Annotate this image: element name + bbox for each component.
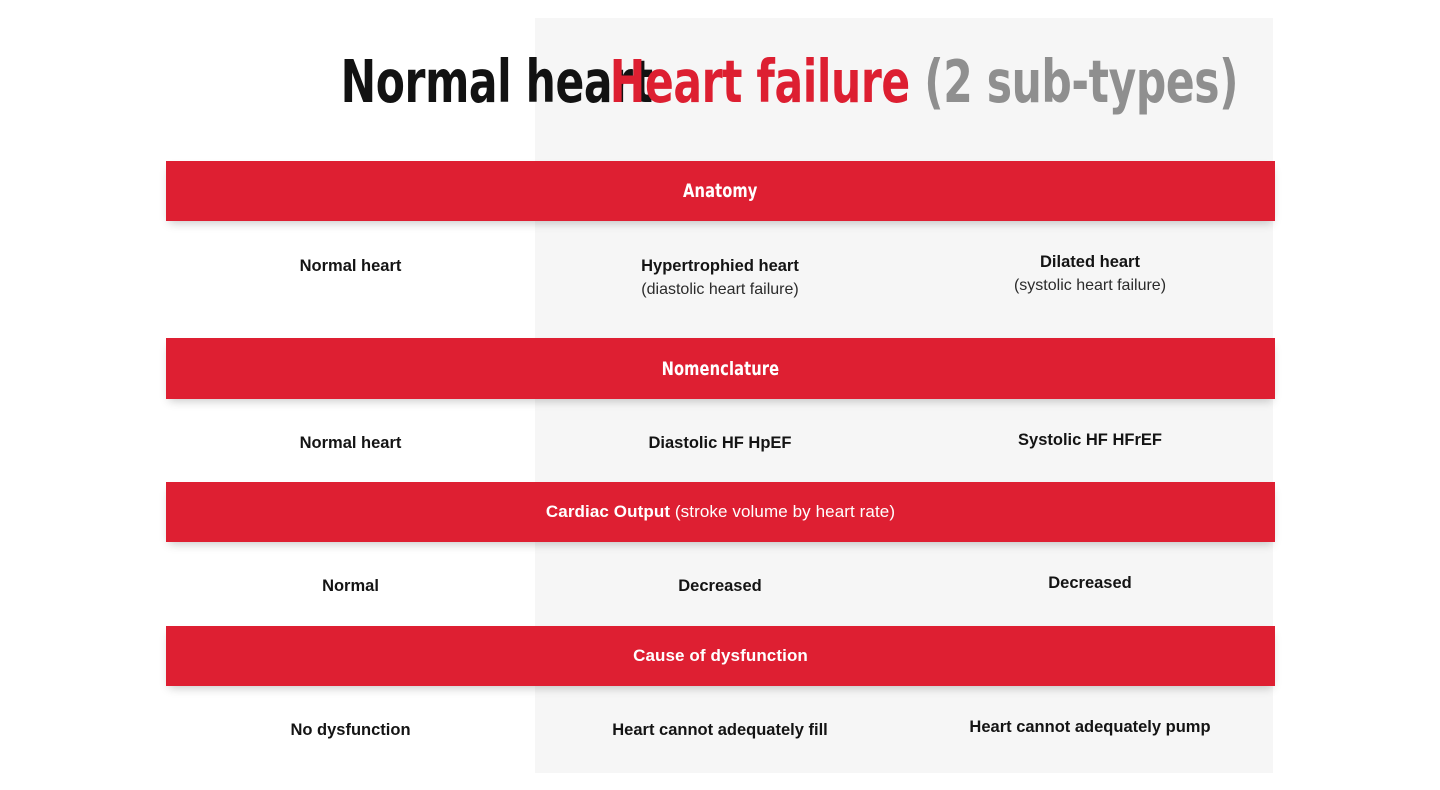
cell-anatomy-dilated: Dilated heart (systolic heart failure)	[905, 221, 1275, 337]
cell-cardiac-output-hypertrophied-main: Decreased	[535, 575, 905, 598]
cell-nomenclature-normal-main: Normal heart	[166, 432, 535, 455]
data-row-anatomy: Normal heart Hypertrophied heart (diasto…	[166, 221, 1275, 337]
data-row-nomenclature: Normal heart Diastolic HF HpEF Systolic …	[166, 399, 1275, 481]
cell-cause-systolic-main: Heart cannot adequately pump	[905, 716, 1275, 739]
cell-nomenclature-systolic: Systolic HF HFrEF	[905, 399, 1275, 481]
cell-cause-normal-main: No dysfunction	[166, 719, 535, 742]
heading-heart-failure: Heart failure (2 sub-types)	[610, 46, 1200, 118]
section-header-cardiac-output-label: Cardiac Output (stroke volume by heart r…	[546, 502, 895, 522]
cell-cardiac-output-normal-main: Normal	[166, 575, 535, 598]
section-header-cardiac-output-bold: Cardiac Output	[546, 502, 670, 521]
data-row-cause-of-dysfunction: No dysfunction Heart cannot adequately f…	[166, 686, 1275, 773]
section-header-anatomy-bold: Anatomy	[683, 180, 757, 202]
data-row-cardiac-output: Normal Decreased Decreased	[166, 542, 1275, 625]
section-header-anatomy: Anatomy	[166, 161, 1275, 221]
cell-cardiac-output-hypertrophied: Decreased	[535, 542, 905, 625]
section-header-nomenclature-label: Nomenclature	[662, 358, 780, 380]
cell-cause-diastolic-main: Heart cannot adequately fill	[535, 719, 905, 742]
cell-cardiac-output-normal: Normal	[166, 542, 535, 625]
cell-nomenclature-normal: Normal heart	[166, 399, 535, 481]
section-header-nomenclature: Nomenclature	[166, 338, 1275, 399]
heading-heart-failure-subtypes: (2 sub-types)	[924, 47, 1238, 116]
section-header-cardiac-output-regular: (stroke volume by heart rate)	[670, 502, 895, 521]
cell-anatomy-dilated-sub: (systolic heart failure)	[905, 274, 1275, 297]
heading-heart-failure-main: Heart failure	[610, 47, 910, 116]
cell-anatomy-dilated-main: Dilated heart	[905, 251, 1275, 274]
cell-nomenclature-diastolic-main: Diastolic HF HpEF	[535, 432, 905, 455]
cell-cause-diastolic: Heart cannot adequately fill	[535, 686, 905, 773]
cell-anatomy-normal: Normal heart	[166, 221, 535, 337]
cell-anatomy-hypertrophied-sub: (diastolic heart failure)	[535, 278, 905, 301]
cell-cardiac-output-dilated: Decreased	[905, 542, 1275, 625]
cell-nomenclature-diastolic: Diastolic HF HpEF	[535, 399, 905, 481]
comparison-table: Normal heart Heart failure (2 sub-types)…	[0, 0, 1440, 790]
section-header-cardiac-output: Cardiac Output (stroke volume by heart r…	[166, 482, 1275, 542]
section-header-anatomy-label: Anatomy	[683, 180, 757, 202]
section-header-cause-of-dysfunction-label: Cause of dysfunction	[633, 646, 808, 666]
cell-nomenclature-systolic-main: Systolic HF HFrEF	[905, 429, 1275, 452]
section-header-cause-of-dysfunction-bold: Cause of dysfunction	[633, 646, 808, 665]
cell-cause-normal: No dysfunction	[166, 686, 535, 773]
cell-anatomy-hypertrophied: Hypertrophied heart (diastolic heart fai…	[535, 221, 905, 337]
cell-anatomy-normal-main: Normal heart	[166, 255, 535, 278]
cell-cause-systolic: Heart cannot adequately pump	[905, 686, 1275, 773]
cell-cardiac-output-dilated-main: Decreased	[905, 572, 1275, 595]
section-header-cause-of-dysfunction: Cause of dysfunction	[166, 626, 1275, 686]
cell-anatomy-hypertrophied-main: Hypertrophied heart	[535, 255, 905, 278]
column-headings: Normal heart Heart failure (2 sub-types)	[0, 0, 1440, 150]
section-header-nomenclature-bold: Nomenclature	[662, 358, 780, 380]
